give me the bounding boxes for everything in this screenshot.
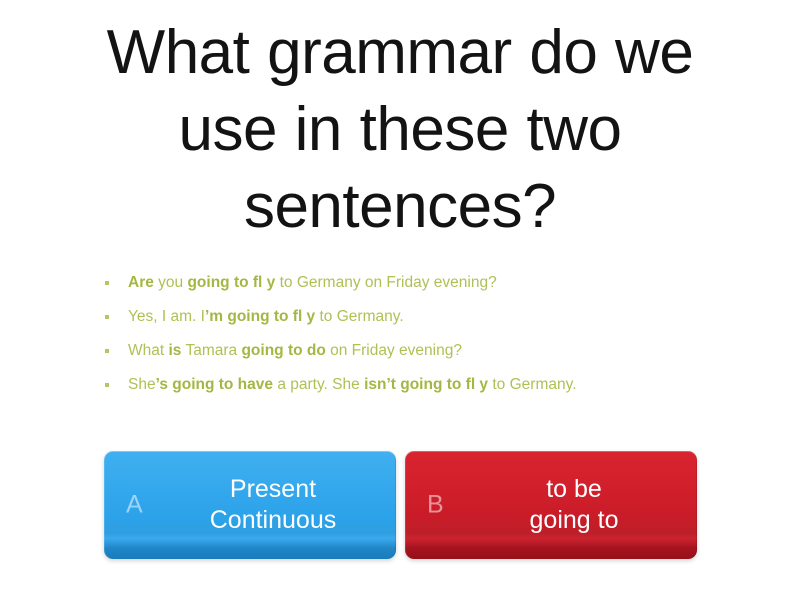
square-bullet-icon — [105, 281, 109, 285]
answer-option-a[interactable]: A Present Continuous — [104, 451, 396, 559]
list-item: What is Tamara going to do on Friday eve… — [100, 340, 740, 362]
example-sentence-list: Are you going to fl y to Germany on Frid… — [100, 272, 740, 396]
question-block: What grammar do we use in these two sent… — [60, 14, 740, 245]
answer-label-b: to be going to — [463, 474, 685, 536]
list-item: Are you going to fl y to Germany on Frid… — [100, 272, 740, 294]
answer-options: A Present Continuous B to be going to — [0, 451, 800, 571]
answer-letter-b: B — [427, 493, 444, 518]
question-title: What grammar do we use in these two sent… — [60, 14, 740, 245]
answer-option-b[interactable]: B to be going to — [405, 451, 697, 559]
sentence-text-2: Yes, I am. I’m going to fl y to Germany. — [128, 308, 404, 325]
sentence-text-1: Are you going to fl y to Germany on Frid… — [128, 274, 497, 291]
square-bullet-icon — [105, 349, 109, 353]
list-item: Yes, I am. I’m going to fl y to Germany. — [100, 306, 740, 328]
quiz-stage: What grammar do we use in these two sent… — [0, 0, 800, 600]
answer-letter-a: A — [126, 493, 143, 518]
list-item: She’s going to have a party. She isn’t g… — [100, 374, 740, 396]
sentence-text-3: What is Tamara going to do on Friday eve… — [128, 342, 462, 359]
square-bullet-icon — [105, 315, 109, 319]
sentence-text-4: She’s going to have a party. She isn’t g… — [128, 376, 577, 393]
square-bullet-icon — [105, 383, 109, 387]
answer-label-a: Present Continuous — [162, 474, 384, 536]
